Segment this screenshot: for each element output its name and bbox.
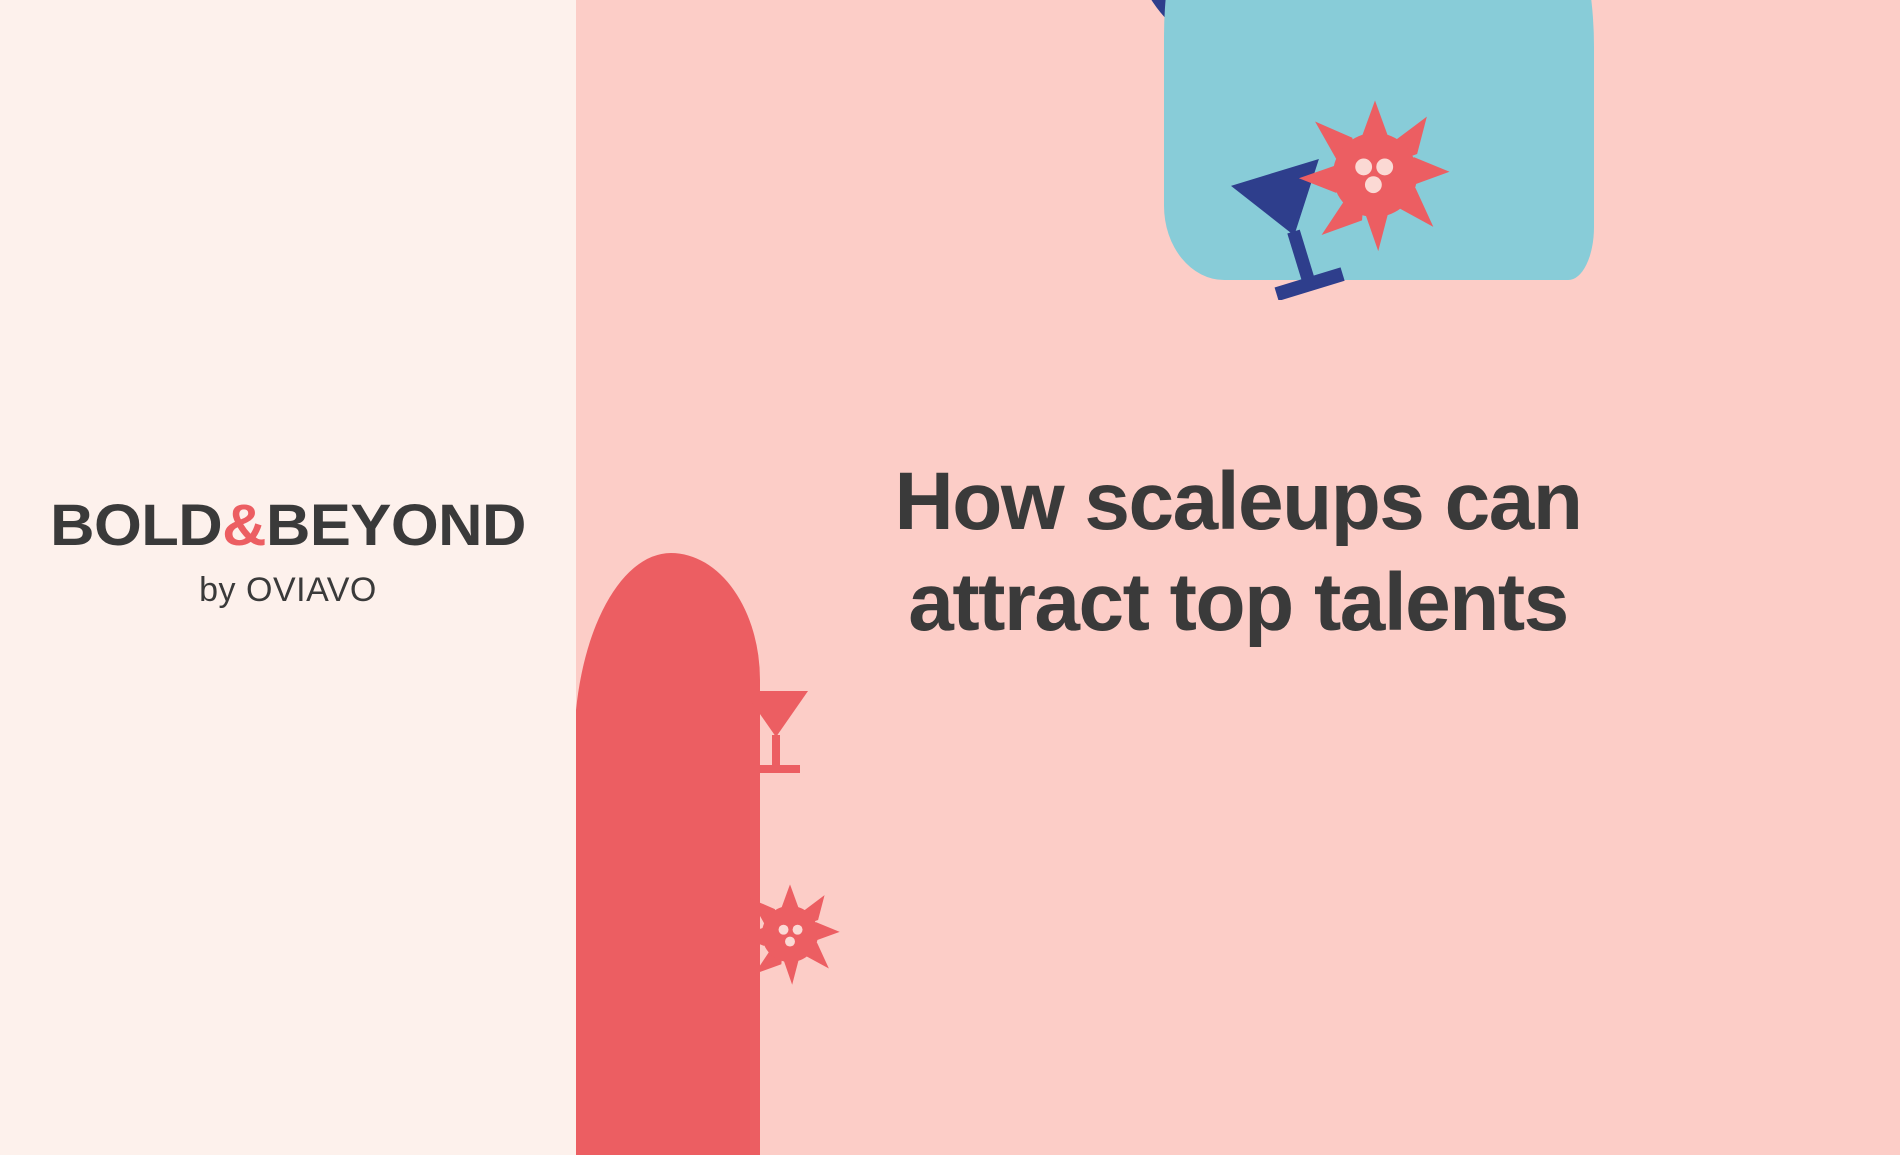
brand-logo: BOLD&BEYOND by OVIAVO [0,497,576,607]
headline-line-2: attract top talents [576,553,1900,654]
presentation-slide: BOLD&BEYOND by OVIAVO How scaleups can a… [0,0,1900,1155]
coral-flower-small-icon [736,880,844,988]
coral-cocktail-glass-icon [738,685,814,783]
brand-tagline: by OVIAVO [0,573,576,607]
wordmark-ampersand: & [222,493,266,558]
wordmark-beyond: BEYOND [266,493,526,558]
wordmark-bold: BOLD [50,493,222,558]
brand-wordmark: BOLD&BEYOND [0,497,593,555]
headline-line-1: How scaleups can [576,452,1900,553]
slide-headline: How scaleups can attract top talents [576,452,1900,654]
coral-flower-large-icon [1294,94,1456,256]
